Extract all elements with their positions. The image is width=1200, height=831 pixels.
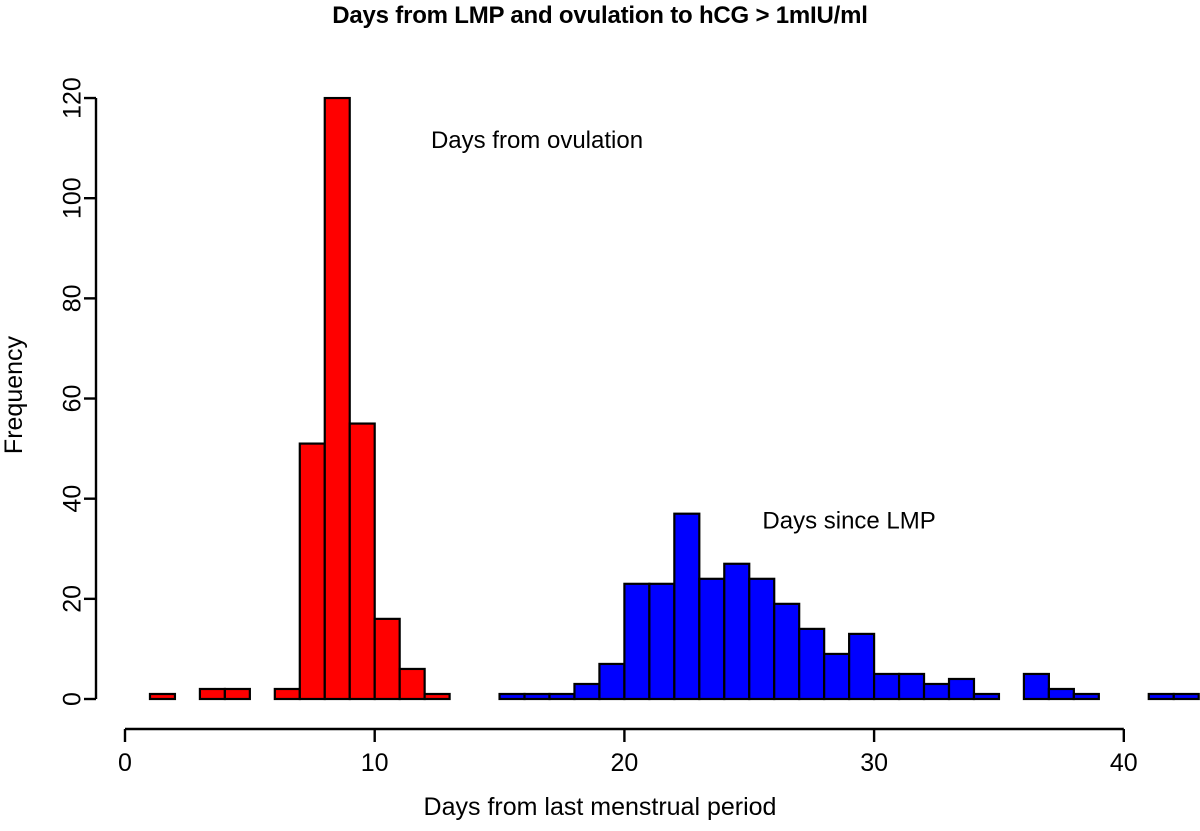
histogram-bar	[599, 664, 624, 699]
y-axis-title: Frequency	[0, 335, 28, 454]
histogram-bar	[724, 564, 749, 699]
histogram-bar	[974, 694, 999, 699]
histogram-bar	[649, 584, 674, 699]
x-tick-label: 40	[1110, 749, 1138, 777]
histogram-bar	[350, 424, 375, 699]
y-tick-label: 100	[59, 177, 87, 219]
histogram-bar	[674, 514, 699, 699]
axes-layer: 020406080100120 010203040	[59, 77, 1138, 777]
histogram-bar	[300, 444, 325, 699]
y-tick-label: 120	[59, 77, 87, 119]
histogram-bar	[425, 694, 450, 699]
histogram-bar	[1149, 694, 1174, 699]
histogram-bar	[874, 674, 899, 699]
histogram-bar	[774, 604, 799, 699]
x-axis-ticks: 010203040	[118, 729, 1138, 777]
histogram-bar	[150, 694, 175, 699]
histogram-bar	[624, 584, 649, 699]
histogram-bar	[225, 689, 250, 699]
histogram-bar	[275, 689, 300, 699]
histogram-bar	[799, 629, 824, 699]
histogram-bar	[500, 694, 525, 699]
histogram-bar	[549, 694, 574, 699]
histogram-bar	[325, 98, 350, 699]
x-tick-label: 20	[610, 749, 638, 777]
y-tick-label: 40	[59, 485, 87, 513]
chart-figure: Days from LMP and ovulation to hCG > 1mI…	[0, 0, 1200, 831]
histogram-bar	[1024, 674, 1049, 699]
histogram-bar	[1174, 694, 1199, 699]
histogram-bar	[849, 634, 874, 699]
y-tick-label: 80	[59, 284, 87, 312]
histogram-bar	[899, 674, 924, 699]
x-axis-title: Days from last menstrual period	[424, 793, 777, 821]
x-tick-label: 0	[118, 749, 132, 777]
x-tick-label: 30	[860, 749, 888, 777]
x-tick-label: 10	[361, 749, 389, 777]
histogram-bar	[400, 669, 425, 699]
histogram-bar	[949, 679, 974, 699]
y-tick-label: 20	[59, 585, 87, 613]
series-annotation-ovulation: Days from ovulation	[431, 127, 643, 154]
histogram-bar	[574, 684, 599, 699]
histogram-plot: 020406080100120 010203040 Days from last…	[0, 0, 1200, 831]
histogram-bar	[200, 689, 225, 699]
y-axis-ticks: 020406080100120	[59, 77, 96, 706]
labels-layer: Days from last menstrual period Frequenc…	[0, 127, 936, 821]
histogram-bar	[749, 579, 774, 699]
y-tick-label: 60	[59, 385, 87, 413]
histogram-bar	[375, 619, 400, 699]
series-annotation-lmp: Days since LMP	[762, 508, 935, 535]
histogram-bar	[699, 579, 724, 699]
histogram-bar	[924, 684, 949, 699]
histogram-bar	[525, 694, 550, 699]
histogram-bar	[1049, 689, 1074, 699]
histogram-bar	[824, 654, 849, 699]
histogram-bar	[1074, 694, 1099, 699]
y-tick-label: 0	[59, 692, 87, 706]
bars-layer	[150, 98, 1199, 699]
